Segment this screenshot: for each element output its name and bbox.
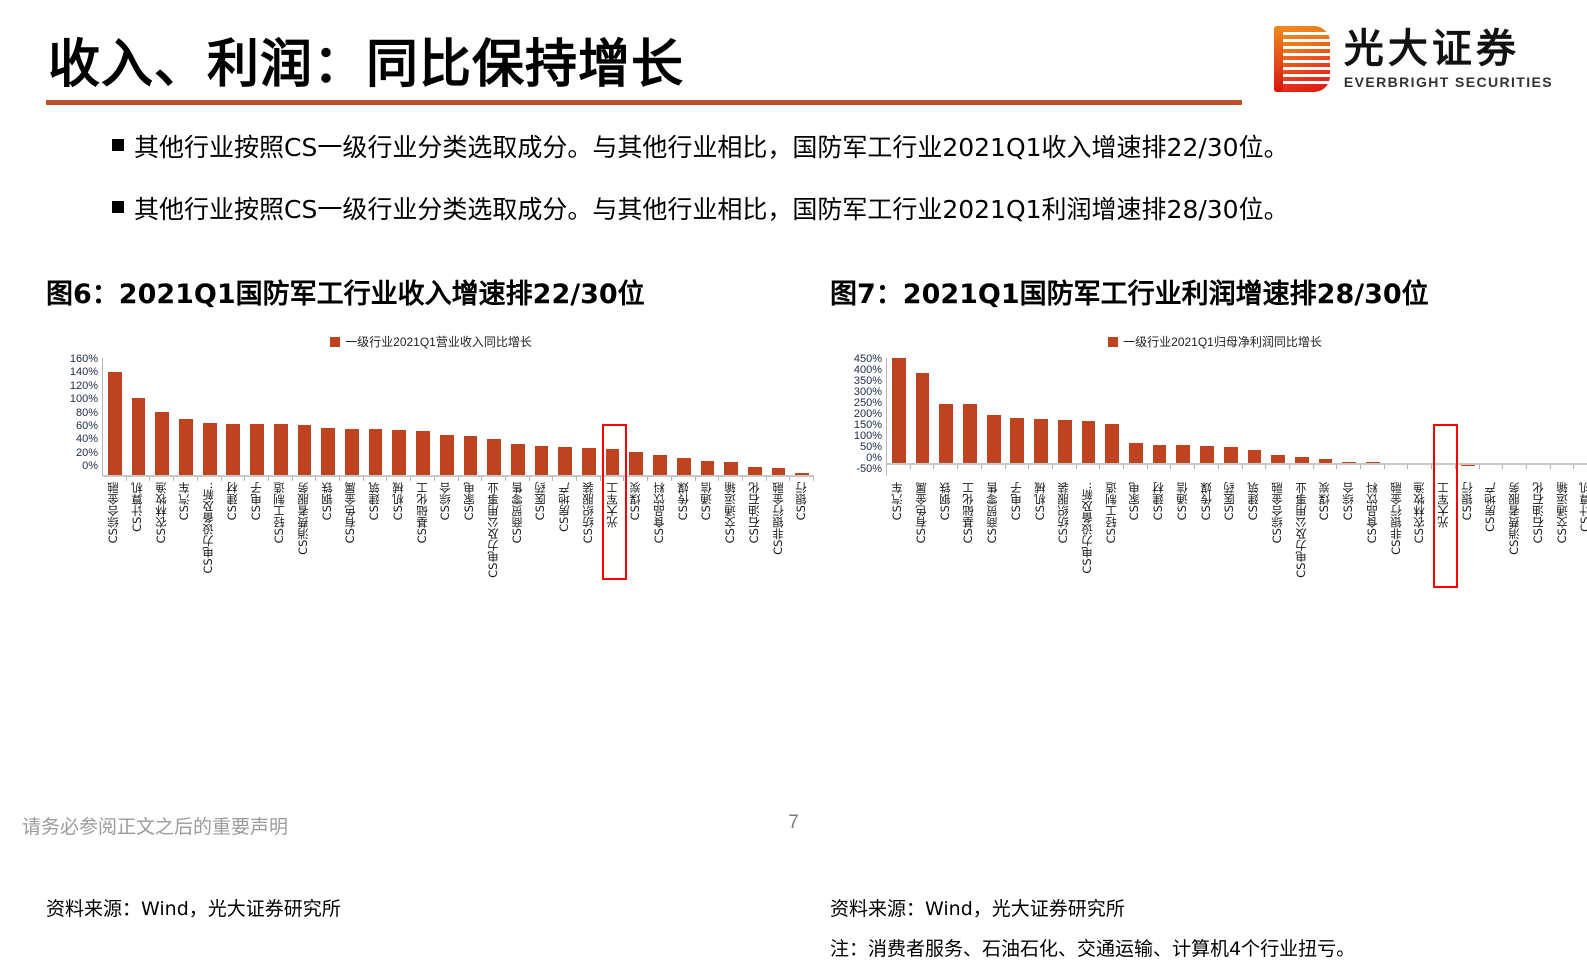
x-axis-label-text: CS煤炭 (630, 482, 642, 520)
x-axis-label: CS电子 (244, 482, 268, 594)
x-tick (1361, 464, 1385, 469)
bar (269, 358, 293, 476)
x-axis-label: CS综合金融 (102, 482, 126, 594)
x-tick (459, 476, 483, 481)
bar (340, 358, 364, 476)
x-tick (577, 476, 601, 481)
x-axis-label-text: CS综合金融 (1272, 482, 1284, 543)
y-tick-label: -50% (856, 464, 882, 475)
x-axis-label-text: CS建筑 (1248, 482, 1260, 520)
figure-6-y-axis: 160%140%120%100%80%60%40%20%0% (46, 358, 98, 476)
x-axis-label: CS非银行金融 (1384, 482, 1408, 594)
x-axis-label: CS钢铁 (933, 482, 957, 594)
x-tick (127, 476, 151, 481)
x-tick (1551, 464, 1575, 469)
bar (672, 358, 696, 476)
figure-7-plot-area (886, 358, 1587, 476)
x-axis-label-text: CS有色金属 (916, 482, 928, 543)
bar-rect (987, 415, 1001, 464)
bar-rect (1153, 445, 1167, 464)
x-tick (293, 476, 317, 481)
bar-rect (535, 446, 549, 476)
bar (577, 358, 601, 476)
legend-label: 一级行业2021Q1归母净利润同比增长 (1123, 333, 1322, 350)
x-axis-label: CS汽车 (173, 482, 197, 594)
bar (1574, 358, 1587, 476)
x-tick (911, 464, 935, 469)
x-axis-label-text: CS电子 (251, 482, 263, 520)
x-tick (696, 476, 720, 481)
x-axis-label: CS基础化工 (957, 482, 981, 594)
bar-rect (1082, 421, 1096, 465)
x-axis-label: CS农林牧渔 (1408, 482, 1432, 594)
x-axis-label-text: CS医药 (535, 482, 547, 520)
x-tick (1243, 464, 1267, 469)
slide: 收入、利润：同比保持增长 光大证券 EVERBRIGHT SECURITIES … (0, 0, 1587, 892)
x-tick (1503, 464, 1527, 469)
x-axis-label: CS石油石化 (1527, 482, 1551, 594)
bar (1148, 358, 1172, 476)
bar (1385, 358, 1409, 476)
x-axis-label: CS家电 (458, 482, 482, 594)
x-tick (1337, 464, 1361, 469)
bar-rect (250, 424, 264, 476)
x-tick (1195, 464, 1219, 469)
x-axis-label: CS有色金属 (339, 482, 363, 594)
x-axis-label-text: CS交通运输 (725, 482, 737, 543)
bar (435, 358, 459, 476)
x-tick (1148, 464, 1172, 469)
x-axis-label-text: CS石油石化 (1533, 482, 1545, 543)
bar (1029, 358, 1053, 476)
x-tick (790, 476, 814, 481)
x-axis-label: CS电力设备及新.. (197, 482, 221, 594)
bar (316, 358, 340, 476)
list-item: 其他行业按照CS一级行业分类选取成分。与其他行业相比，国防军工行业2021Q1利… (112, 190, 1532, 226)
everbright-logo: 光大证券 EVERBRIGHT SECURITIES (1274, 26, 1553, 92)
x-axis-label-text: CS建材 (227, 482, 239, 520)
bar (506, 358, 530, 476)
x-axis-label-text: 光大军工 (1438, 482, 1450, 528)
bullet-text: 其他行业按照CS一级行业分类选取成分。与其他行业相比，国防军工行业2021Q1收… (134, 128, 1289, 164)
x-axis-label: CS机械 (1028, 482, 1052, 594)
x-tick (222, 476, 246, 481)
figure-6-title: 图6：2021Q1国防军工行业收入增速排22/30位 (46, 272, 816, 311)
x-axis-label: CS电力及公用事业 (1289, 482, 1313, 594)
bar-rect (1129, 443, 1143, 465)
bar (1551, 358, 1575, 476)
figure-7-chart: 450%400%350%300%250%200%150%100%50%0%-50… (830, 358, 1587, 598)
bar-rect (511, 444, 525, 476)
x-axis-label-text: CS消费者服务 (298, 482, 310, 555)
bar (887, 358, 911, 476)
x-axis-label: CS煤炭 (624, 482, 648, 594)
bar-rect (1105, 424, 1119, 464)
x-axis-label: CS房地产 (553, 482, 577, 594)
bar-rect (298, 425, 312, 476)
everbright-b-mark-icon (1274, 26, 1330, 92)
figure-7-panel: 图7：2021Q1国防军工行业利润增速排28/30位 一级行业2021Q1归母净… (830, 272, 1587, 598)
x-axis-label: CS电子 (1005, 482, 1029, 594)
x-axis-label-text: CS商贸零售 (512, 482, 524, 543)
bar-rect (1248, 450, 1262, 465)
bar-rect (558, 447, 572, 477)
x-axis-label: CS机械 (387, 482, 411, 594)
bar-rect (203, 423, 217, 476)
x-axis-label-text: CS钢铁 (322, 482, 334, 520)
x-axis-label: CS房地产 (1479, 482, 1503, 594)
bar (696, 358, 720, 476)
x-tick (387, 476, 411, 481)
x-axis-label-text: CS轻工制造 (1106, 482, 1118, 543)
x-axis-label: CS综合金融 (1266, 482, 1290, 594)
bar (1480, 358, 1504, 476)
legend-swatch-icon (1108, 337, 1118, 347)
bar (1077, 358, 1101, 476)
x-tick (1006, 464, 1030, 469)
x-axis-label-text: CS基础化工 (417, 482, 429, 543)
x-tick (767, 476, 791, 481)
x-axis-label: CS银行 (790, 482, 814, 594)
x-axis-label-text: CS综合 (1343, 482, 1355, 520)
y-tick-label: 20% (76, 448, 98, 459)
x-tick (553, 476, 577, 481)
x-axis-label: CS银行 (1456, 482, 1480, 594)
x-axis-label: CS医药 (1218, 482, 1242, 594)
logo-english-name: EVERBRIGHT SECURITIES (1344, 75, 1553, 89)
x-tick (1219, 464, 1243, 469)
bar (1337, 358, 1361, 476)
x-axis-label-text: CS非银行金融 (773, 482, 785, 555)
x-axis-label: CS汽车 (886, 482, 910, 594)
x-axis-label-text: CS医药 (1224, 482, 1236, 520)
x-axis-label: CS农林牧渔 (149, 482, 173, 594)
x-axis-label: CS建筑 (1242, 482, 1266, 594)
x-axis-label: CS石油石化 (743, 482, 767, 594)
square-bullet-icon (112, 139, 124, 151)
x-axis-label: CS计算机 (126, 482, 150, 594)
x-tick (482, 476, 506, 481)
x-tick (672, 476, 696, 481)
bar-rect (155, 412, 169, 476)
x-tick (1077, 464, 1101, 469)
bar (1219, 358, 1243, 476)
x-axis-label-text: CS农林牧渔 (156, 482, 168, 543)
x-axis-label-text: CS电力及公用事业 (488, 482, 500, 578)
bar (1503, 358, 1527, 476)
bar (1290, 358, 1314, 476)
x-axis-label: CS传媒 (672, 482, 696, 594)
x-axis-label-text: CS通信 (701, 482, 713, 520)
x-axis-label-text: CS房地产 (1485, 482, 1497, 532)
bar (222, 358, 246, 476)
bar-rect (345, 429, 359, 476)
bar (553, 358, 577, 476)
x-axis-label: CS消费者服务 (1503, 482, 1527, 594)
bar (1456, 358, 1480, 476)
x-tick (364, 476, 388, 481)
x-axis-label: CS食品饮料 (648, 482, 672, 594)
bar-rect (108, 372, 122, 476)
bar (1124, 358, 1148, 476)
x-axis-label-text: CS银行 (1462, 482, 1474, 520)
figure-7-bars (887, 358, 1587, 476)
figure-7-source: 资料来源：Wind，光大证券研究所 (830, 894, 1125, 921)
x-axis-label-text: CS机械 (1035, 482, 1047, 520)
x-tick (316, 476, 340, 481)
x-axis-label: CS通信 (1171, 482, 1195, 594)
x-tick (1408, 464, 1432, 469)
figure-7-note: 注：消费者服务、石油石化、交通运输、计算机4个行业扭亏。 (830, 934, 1355, 961)
logo-chinese-name: 光大证券 (1344, 29, 1553, 69)
x-axis-label-text: CS电力设备及新.. (1082, 482, 1094, 574)
page-number: 7 (0, 812, 1587, 834)
x-tick (1385, 464, 1409, 469)
x-axis-label: 光大军工 (1432, 482, 1456, 594)
x-tick (1432, 464, 1456, 469)
y-tick-label: 100% (70, 394, 98, 405)
x-axis-label: 光大军工 (600, 482, 624, 594)
x-axis-label-text: CS房地产 (559, 482, 571, 532)
x-tick (340, 476, 364, 481)
y-tick-label: 140% (70, 367, 98, 378)
x-tick (958, 464, 982, 469)
x-axis-label-text: CS机械 (393, 482, 405, 520)
bar (624, 358, 648, 476)
bar (958, 358, 982, 476)
x-tick (624, 476, 648, 481)
bar-rect (677, 458, 691, 476)
x-axis-label-text: CS传媒 (678, 482, 690, 520)
x-tick (103, 476, 127, 481)
x-axis-label-text: CS非银行金融 (1391, 482, 1403, 555)
bar (982, 358, 1006, 476)
list-item: 其他行业按照CS一级行业分类选取成分。与其他行业相比，国防军工行业2021Q1收… (112, 128, 1532, 164)
x-tick (411, 476, 435, 481)
bar-rect (653, 455, 667, 476)
x-axis-label-text: CS煤炭 (1319, 482, 1331, 520)
x-tick (1100, 464, 1124, 469)
bar (743, 358, 767, 476)
figure-7-x-ticks (887, 464, 1587, 469)
bar-rect (1200, 446, 1214, 464)
bar-rect (416, 431, 430, 476)
y-tick-label: 60% (76, 421, 98, 432)
bar-rect (582, 448, 596, 476)
x-axis-label: CS电力及公用事业 (482, 482, 506, 594)
figure-7-y-axis: 450%400%350%300%250%200%150%100%50%0%-50… (830, 358, 882, 476)
x-axis-label-text: CS综合金融 (108, 482, 120, 543)
bar (127, 358, 151, 476)
x-tick (743, 476, 767, 481)
bar (530, 358, 554, 476)
x-axis-label-text: CS纺织服装 (1058, 482, 1070, 543)
x-axis-label-text: CS综合 (440, 482, 452, 520)
bar-rect (321, 428, 335, 476)
bar (911, 358, 935, 476)
legend-label: 一级行业2021Q1营业收入同比增长 (345, 333, 532, 350)
bar (934, 358, 958, 476)
x-axis-label: CS综合 (1337, 482, 1361, 594)
x-tick (648, 476, 672, 481)
bar-rect (629, 452, 643, 476)
x-axis-label: CS交通运输 (1551, 482, 1575, 594)
bar (482, 358, 506, 476)
x-tick (934, 464, 958, 469)
page-title: 收入、利润：同比保持增长 (48, 22, 684, 97)
x-axis-label: CS家电 (1123, 482, 1147, 594)
x-tick (601, 476, 625, 481)
bar (1006, 358, 1030, 476)
figure-6-chart: 160%140%120%100%80%60%40%20%0% CS综合金融CS计… (46, 358, 816, 598)
bullet-list: 其他行业按照CS一级行业分类选取成分。与其他行业相比，国防军工行业2021Q1收… (112, 128, 1532, 252)
bar-rect (1176, 445, 1190, 464)
x-tick (435, 476, 459, 481)
bar-rect (440, 435, 454, 476)
bar-rect (606, 449, 620, 476)
figure-6-plot-area (102, 358, 814, 476)
x-axis-label-text: CS电子 (1011, 482, 1023, 520)
x-tick (1266, 464, 1290, 469)
x-tick (198, 476, 222, 481)
bar (1527, 358, 1551, 476)
x-axis-label: CS轻工制造 (268, 482, 292, 594)
figure-6-source: 资料来源：Wind，光大证券研究所 (46, 894, 341, 921)
bar-rect (1058, 420, 1072, 464)
bar (1314, 358, 1338, 476)
bar (1195, 358, 1219, 476)
bar-rect (369, 429, 383, 476)
figure-6-bars (103, 358, 814, 476)
bar-rect (1010, 418, 1024, 464)
x-tick (982, 464, 1006, 469)
bar (245, 358, 269, 476)
bar (1408, 358, 1432, 476)
x-axis-label: CS建筑 (363, 482, 387, 594)
x-axis-label-text: CS建材 (1153, 482, 1165, 520)
x-tick (1290, 464, 1314, 469)
x-axis-label-text: CS食品饮料 (1367, 482, 1379, 543)
y-tick-label: 40% (76, 434, 98, 445)
bar-rect (392, 430, 406, 476)
x-axis-label-text: CS钢铁 (940, 482, 952, 520)
figure-7-legend: 一级行业2021Q1归母净利润同比增长 (830, 333, 1587, 350)
bar (1243, 358, 1267, 476)
bar-rect (274, 424, 288, 476)
x-axis-label-text: CS银行 (796, 482, 808, 520)
x-axis-label: CS轻工制造 (1100, 482, 1124, 594)
bar (1432, 358, 1456, 476)
figure-7-x-labels: CS汽车CS有色金属CS钢铁CS基础化工CS商贸零售CS电子CS机械CS纺织服装… (886, 482, 1587, 594)
bar (198, 358, 222, 476)
bar (387, 358, 411, 476)
x-axis-label: CS医药 (529, 482, 553, 594)
x-tick (530, 476, 554, 481)
x-axis-label: CS消费者服务 (292, 482, 316, 594)
x-axis-label: CS通信 (695, 482, 719, 594)
x-axis-label-text: CS汽车 (179, 482, 191, 520)
x-axis-label-text: CS纺织服装 (583, 482, 595, 543)
x-axis-label: CS计算机 (1574, 482, 1587, 594)
x-tick (887, 464, 911, 469)
x-axis-label-text: CS计算机 (1580, 482, 1587, 532)
x-axis-label: CS基础化工 (411, 482, 435, 594)
x-axis-label-text: 光大军工 (607, 482, 619, 528)
x-axis-label: CS交通运输 (719, 482, 743, 594)
bar-rect (487, 439, 501, 476)
x-axis-label-text: CS传媒 (1201, 482, 1213, 520)
x-tick (1574, 464, 1587, 469)
x-axis-label-text: CS计算机 (132, 482, 144, 532)
x-tick (1480, 464, 1504, 469)
x-axis-label: CS建材 (221, 482, 245, 594)
x-axis-label-text: CS商贸零售 (987, 482, 999, 543)
x-axis-label: CS电力设备及新.. (1076, 482, 1100, 594)
x-axis-label: CS非银行金融 (767, 482, 791, 594)
x-axis-label-text: CS农林牧渔 (1414, 482, 1426, 543)
bar-rect (724, 462, 738, 476)
y-tick-label: 120% (70, 381, 98, 392)
x-axis-label: CS纺织服装 (577, 482, 601, 594)
x-axis-label-text: CS家电 (1129, 482, 1141, 520)
x-axis-label-text: CS消费者服务 (1509, 482, 1521, 555)
x-tick (269, 476, 293, 481)
y-tick-label: 160% (70, 354, 98, 365)
x-axis-label: CS煤炭 (1313, 482, 1337, 594)
legend-swatch-icon (330, 337, 340, 347)
x-tick (1456, 464, 1480, 469)
x-axis-label-text: CS有色金属 (345, 482, 357, 543)
x-axis-label-text: CS交通运输 (1557, 482, 1569, 543)
bar (1100, 358, 1124, 476)
x-tick (1314, 464, 1338, 469)
x-tick (1029, 464, 1053, 469)
bar (1053, 358, 1077, 476)
figure-7-title: 图7：2021Q1国防军工行业利润增速排28/30位 (830, 272, 1587, 311)
bar-rect (464, 436, 478, 476)
bar (1171, 358, 1195, 476)
bar-rect (1224, 447, 1238, 464)
x-axis-label-text: CS电力设备及新.. (203, 482, 215, 574)
x-axis-label: CS钢铁 (316, 482, 340, 594)
x-axis-label: CS纺织服装 (1052, 482, 1076, 594)
x-axis-label: CS传媒 (1195, 482, 1219, 594)
bar (364, 358, 388, 476)
bar (648, 358, 672, 476)
bar-rect (916, 373, 930, 465)
x-tick (1171, 464, 1195, 469)
bar-rect (179, 419, 193, 476)
bar (174, 358, 198, 476)
bar-rect (939, 404, 953, 465)
x-tick (150, 476, 174, 481)
x-tick (719, 476, 743, 481)
x-axis-label: CS有色金属 (910, 482, 934, 594)
x-tick (245, 476, 269, 481)
bar-rect (226, 424, 240, 476)
bar (293, 358, 317, 476)
x-axis-label-text: CS轻工制造 (274, 482, 286, 543)
bar-rect (1034, 419, 1048, 464)
x-axis-label-text: CS电力及公用事业 (1296, 482, 1308, 578)
bar (1361, 358, 1385, 476)
bar (411, 358, 435, 476)
figure-6-x-ticks (103, 476, 814, 481)
bar-rect (132, 398, 146, 476)
bar (790, 358, 814, 476)
square-bullet-icon (112, 201, 124, 213)
bar (1266, 358, 1290, 476)
